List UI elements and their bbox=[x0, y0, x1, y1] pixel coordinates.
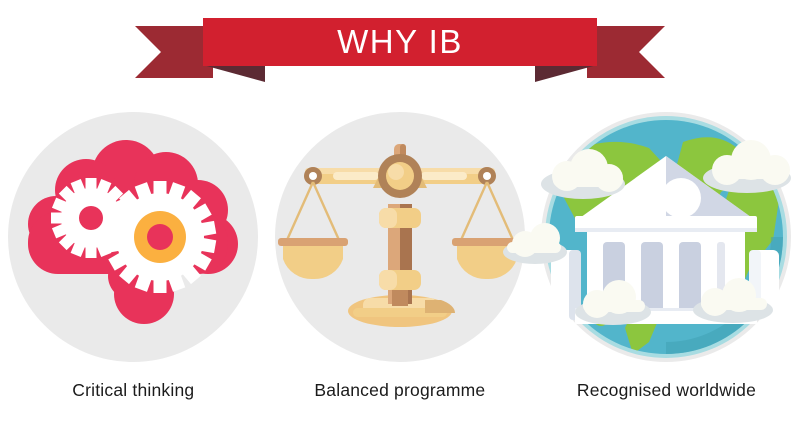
globe-building-icon bbox=[541, 112, 791, 362]
large-gear bbox=[104, 181, 217, 293]
infographic-canvas: WHY IB bbox=[0, 0, 800, 447]
feature-balanced-programme: Balanced programme bbox=[267, 108, 534, 428]
icon-disc-balanced-programme bbox=[275, 112, 525, 362]
feature-caption-critical-thinking: Critical thinking bbox=[0, 380, 267, 401]
scale-pivot bbox=[378, 154, 422, 198]
icon-disc-critical-thinking bbox=[8, 112, 258, 362]
scale-column bbox=[379, 204, 421, 306]
feature-caption-balanced-programme: Balanced programme bbox=[267, 380, 534, 401]
ribbon-tail-left bbox=[135, 26, 213, 78]
feature-caption-recognised-worldwide: Recognised worldwide bbox=[533, 380, 800, 401]
feature-columns: Critical thinking bbox=[0, 108, 800, 428]
icon-disc-recognised-worldwide bbox=[541, 112, 791, 362]
banner-ribbon: WHY IB bbox=[0, 0, 800, 100]
feature-critical-thinking: Critical thinking bbox=[0, 108, 267, 428]
balance-scales-icon bbox=[275, 112, 525, 362]
feature-recognised-worldwide: Recognised worldwide bbox=[533, 108, 800, 428]
page-title: WHY IB bbox=[203, 18, 597, 66]
scale-pan-left bbox=[278, 238, 348, 279]
ribbon-tail-right bbox=[587, 26, 665, 78]
brain-gears-icon bbox=[8, 112, 258, 362]
